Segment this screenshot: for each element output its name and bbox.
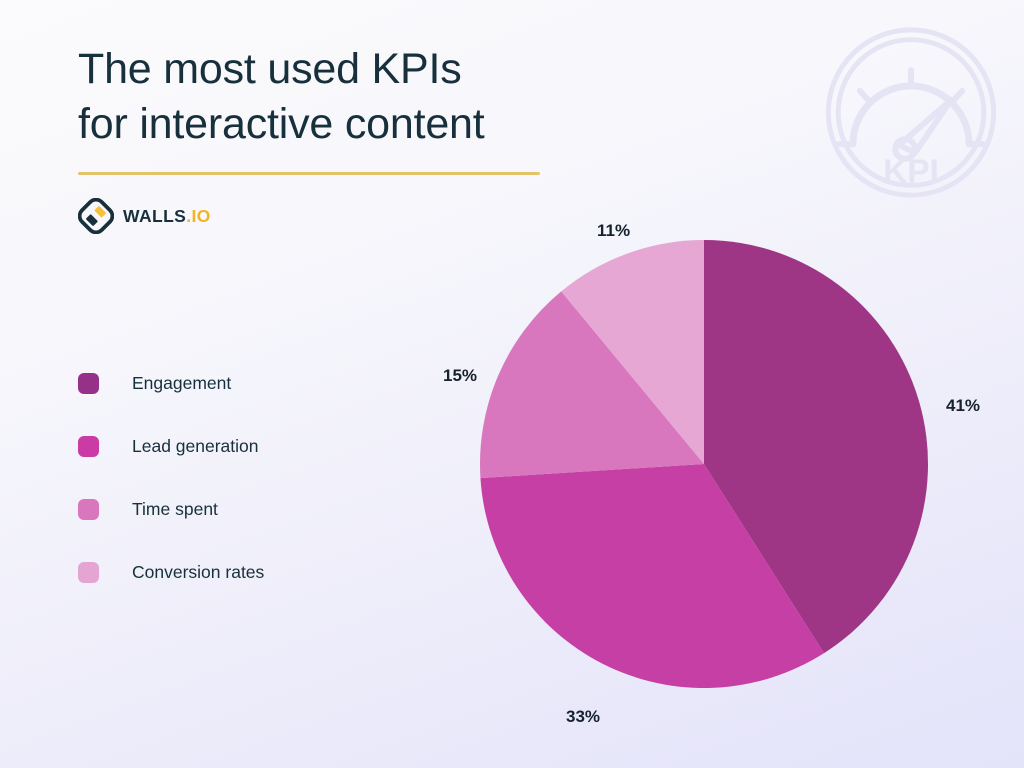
legend-item-conversion-rates[interactable]: Conversion rates xyxy=(78,541,378,604)
pie-value-label: 15% xyxy=(443,366,477,386)
pie-chart-svg xyxy=(478,238,930,690)
legend-label: Lead generation xyxy=(132,436,259,457)
pie-value-label: 41% xyxy=(946,396,980,416)
brand-tld: .IO xyxy=(186,206,211,226)
legend-swatch-icon xyxy=(78,562,99,583)
brand-name: WALLS xyxy=(123,206,186,226)
chart-legend: Engagement Lead generation Time spent Co… xyxy=(78,352,378,604)
legend-item-engagement[interactable]: Engagement xyxy=(78,352,378,415)
brand-logo[interactable]: WALLS.IO xyxy=(78,198,211,234)
legend-item-time-spent[interactable]: Time spent xyxy=(78,478,378,541)
watermark-kpi-text: KPI xyxy=(883,153,939,190)
legend-item-lead-generation[interactable]: Lead generation xyxy=(78,415,378,478)
pie-slice-group xyxy=(480,240,928,688)
legend-swatch-icon xyxy=(78,499,99,520)
pie-value-label: 33% xyxy=(566,707,600,727)
legend-label: Conversion rates xyxy=(132,562,264,583)
title-divider xyxy=(78,172,540,175)
legend-label: Engagement xyxy=(132,373,231,394)
kpi-gauge-watermark: KPI xyxy=(812,22,1010,207)
legend-swatch-icon xyxy=(78,373,99,394)
pie-chart xyxy=(478,238,930,690)
page-title: The most used KPIs for interactive conte… xyxy=(78,42,618,152)
pie-value-label: 11% xyxy=(597,221,630,241)
legend-label: Time spent xyxy=(132,499,218,520)
legend-swatch-icon xyxy=(78,436,99,457)
brand-wordmark: WALLS.IO xyxy=(123,206,211,227)
title-block: The most used KPIs for interactive conte… xyxy=(78,42,618,152)
walls-io-diamond-logo-icon xyxy=(78,198,114,234)
